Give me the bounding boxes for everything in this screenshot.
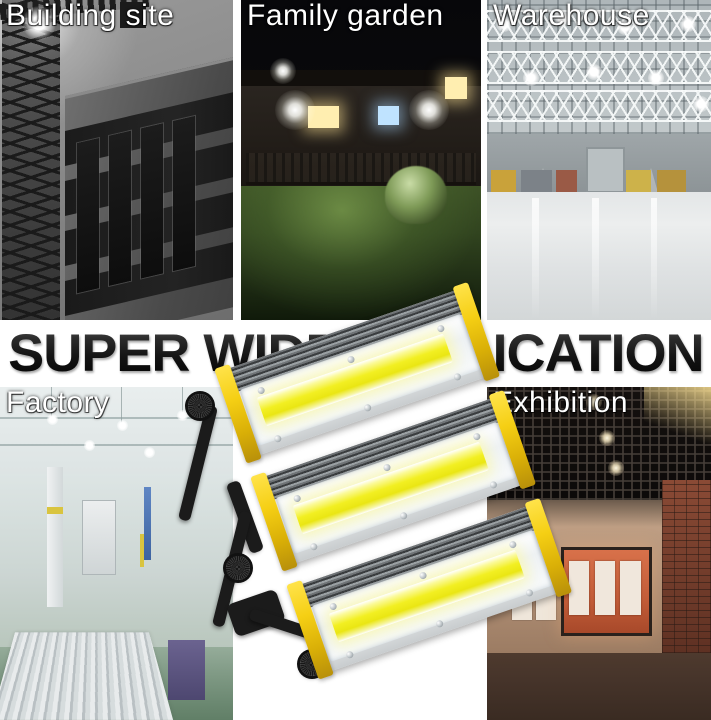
roller-door — [586, 147, 626, 193]
panel-label-building-site: Building site — [6, 0, 174, 38]
end-cap-left — [286, 580, 333, 679]
heatsink-fins — [260, 397, 504, 502]
lens-cover — [275, 422, 516, 554]
adjustment-knob-lower — [300, 652, 324, 676]
panel-exhibition: Exhibition — [487, 387, 711, 720]
cob-led-strip — [292, 442, 489, 535]
floodlight-right — [409, 90, 449, 130]
blue-column — [144, 487, 151, 560]
panel-family-garden: Family garden — [241, 0, 481, 320]
panel-warehouse: Warehouse — [487, 0, 711, 320]
concrete-building — [65, 50, 233, 320]
tower-crane — [2, 0, 60, 320]
factory-scene — [0, 387, 233, 720]
panel-label-factory: Factory — [6, 387, 110, 425]
bracket-arm-tail — [248, 608, 339, 648]
reflective-floor — [487, 192, 711, 320]
exhibition-scene — [487, 387, 711, 720]
machine-unit — [168, 640, 205, 700]
control-cabinet — [82, 500, 117, 575]
factory-wall — [0, 474, 233, 574]
panel-factory: Factory — [0, 387, 233, 720]
floodlight-left — [275, 90, 315, 130]
panel-label-family-garden: Family garden — [247, 0, 444, 38]
family-garden-scene — [241, 0, 481, 320]
headline-text: SUPER WIDE APPLICATION — [8, 327, 703, 380]
panel-building-site: Building site — [0, 0, 233, 320]
headline-band: SUPER WIDE APPLICATION — [0, 320, 711, 386]
exhibition-floor — [487, 653, 711, 720]
building-site-scene — [0, 0, 233, 320]
brick-wall — [662, 480, 711, 660]
panel-label-exhibition: Exhibition — [493, 387, 628, 425]
poster-canvas: Building site Family garden — [0, 0, 711, 720]
warm-light-glow — [644, 387, 711, 447]
illuminated-display-panel — [561, 547, 652, 636]
floodlight-upper — [270, 58, 296, 84]
support-post — [47, 467, 63, 607]
garden-bush — [385, 166, 447, 224]
panel-label-warehouse: Warehouse — [493, 0, 650, 38]
end-cap-left — [250, 472, 297, 571]
warehouse-scene — [487, 0, 711, 320]
roller-conveyor — [0, 633, 172, 720]
bracket-mount-plate — [226, 588, 286, 637]
